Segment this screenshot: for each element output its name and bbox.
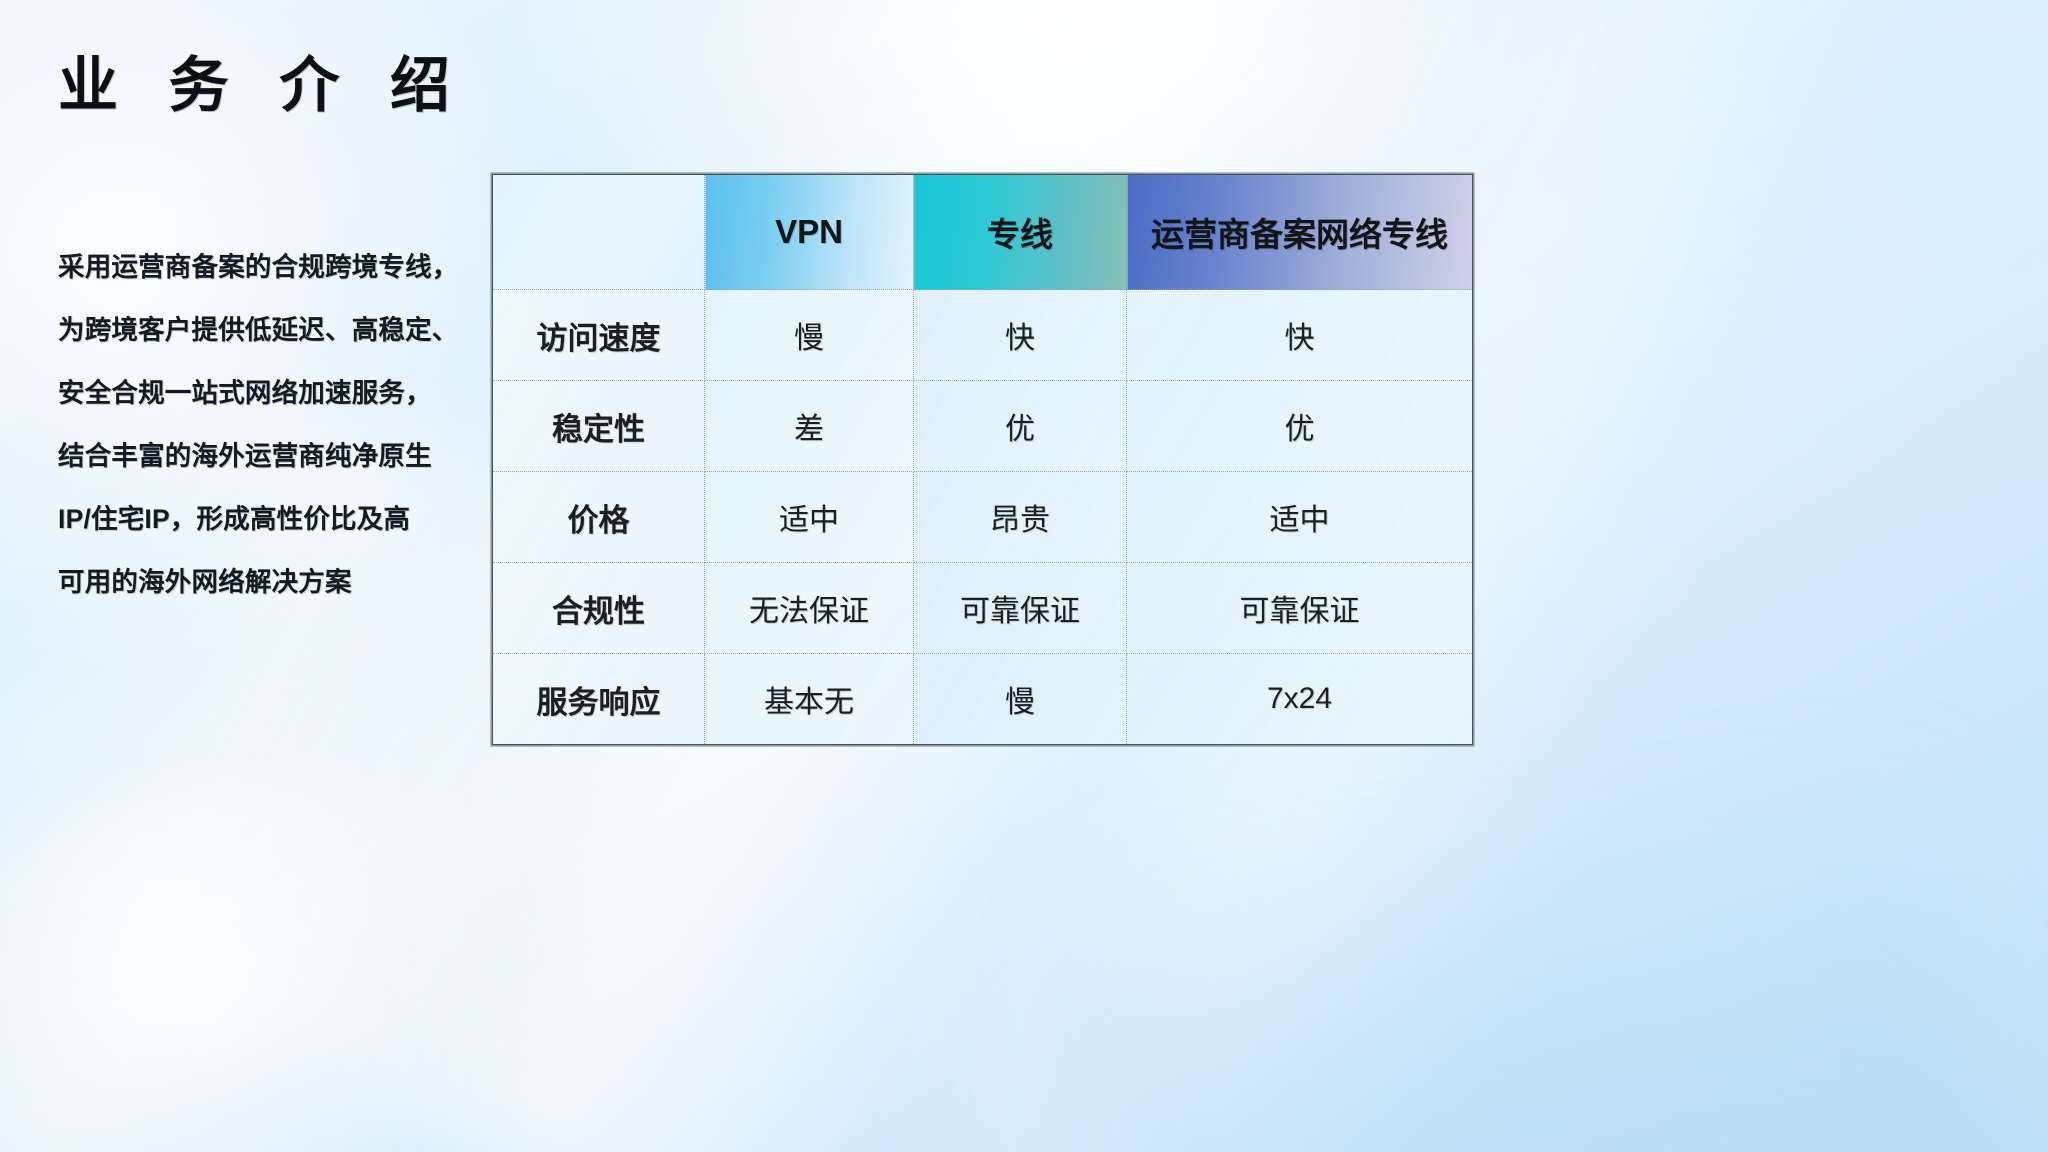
cell-operator-line: 优 bbox=[1127, 381, 1473, 472]
cell-vpn: 差 bbox=[705, 381, 914, 472]
intro-line: 可用的海外网络解决方案 bbox=[58, 551, 478, 614]
table-header-cell-vpn: VPN bbox=[705, 175, 914, 290]
row-label: 服务响应 bbox=[493, 654, 705, 745]
table-header-cell-blank bbox=[493, 175, 705, 290]
slide-canvas: 业 务 介 绍 采用运营商备案的合规跨境专线， 为跨境客户提供低延迟、高稳定、 … bbox=[0, 0, 2048, 1152]
background-light-streak bbox=[1036, 752, 2000, 1152]
row-label: 访问速度 bbox=[493, 290, 705, 381]
table-body: 访问速度 慢 快 快 稳定性 差 优 优 价格 适中 昂贵 适中 合规性 无法保… bbox=[493, 290, 1473, 745]
cell-line: 慢 bbox=[914, 654, 1127, 745]
cell-line: 快 bbox=[914, 290, 1127, 381]
cell-vpn: 慢 bbox=[705, 290, 914, 381]
row-label: 价格 bbox=[493, 472, 705, 563]
table-header-cell-operator-line: 运营商备案网络专线 bbox=[1127, 175, 1473, 290]
row-label: 稳定性 bbox=[493, 381, 705, 472]
row-label: 合规性 bbox=[493, 563, 705, 654]
table-header-row: VPN 专线 运营商备案网络专线 bbox=[493, 175, 1473, 290]
table-row: 服务响应 基本无 慢 7x24 bbox=[493, 654, 1473, 745]
cell-vpn: 基本无 bbox=[705, 654, 914, 745]
cell-line: 优 bbox=[914, 381, 1127, 472]
cell-operator-line: 7x24 bbox=[1127, 654, 1473, 745]
cell-operator-line: 适中 bbox=[1127, 472, 1473, 563]
cell-operator-line: 可靠保证 bbox=[1127, 563, 1473, 654]
cell-vpn: 无法保证 bbox=[705, 563, 914, 654]
cell-vpn: 适中 bbox=[705, 472, 914, 563]
cell-line: 可靠保证 bbox=[914, 563, 1127, 654]
table-row: 价格 适中 昂贵 适中 bbox=[493, 472, 1473, 563]
comparison-table: VPN 专线 运营商备案网络专线 访问速度 慢 快 快 稳定性 差 优 优 价格… bbox=[492, 174, 1473, 745]
intro-line: 安全合规一站式网络加速服务， bbox=[58, 362, 478, 425]
intro-line: 结合丰富的海外运营商纯净原生 bbox=[58, 425, 478, 488]
intro-line: IP/住宅IP，形成高性价比及高 bbox=[58, 488, 478, 551]
cell-line: 昂贵 bbox=[914, 472, 1127, 563]
page-title: 业 务 介 绍 bbox=[58, 48, 467, 123]
intro-line: 为跨境客户提供低延迟、高稳定、 bbox=[58, 299, 478, 362]
table-row: 稳定性 差 优 优 bbox=[493, 381, 1473, 472]
intro-line: 采用运营商备案的合规跨境专线， bbox=[58, 236, 478, 299]
table-header-cell-line: 专线 bbox=[914, 175, 1127, 290]
table-row: 访问速度 慢 快 快 bbox=[493, 290, 1473, 381]
background-glow bbox=[0, 772, 640, 1152]
table-row: 合规性 无法保证 可靠保证 可靠保证 bbox=[493, 563, 1473, 654]
cell-operator-line: 快 bbox=[1127, 290, 1473, 381]
intro-paragraph: 采用运营商备案的合规跨境专线， 为跨境客户提供低延迟、高稳定、 安全合规一站式网… bbox=[58, 236, 478, 614]
table-header: VPN 专线 运营商备案网络专线 bbox=[493, 175, 1473, 290]
